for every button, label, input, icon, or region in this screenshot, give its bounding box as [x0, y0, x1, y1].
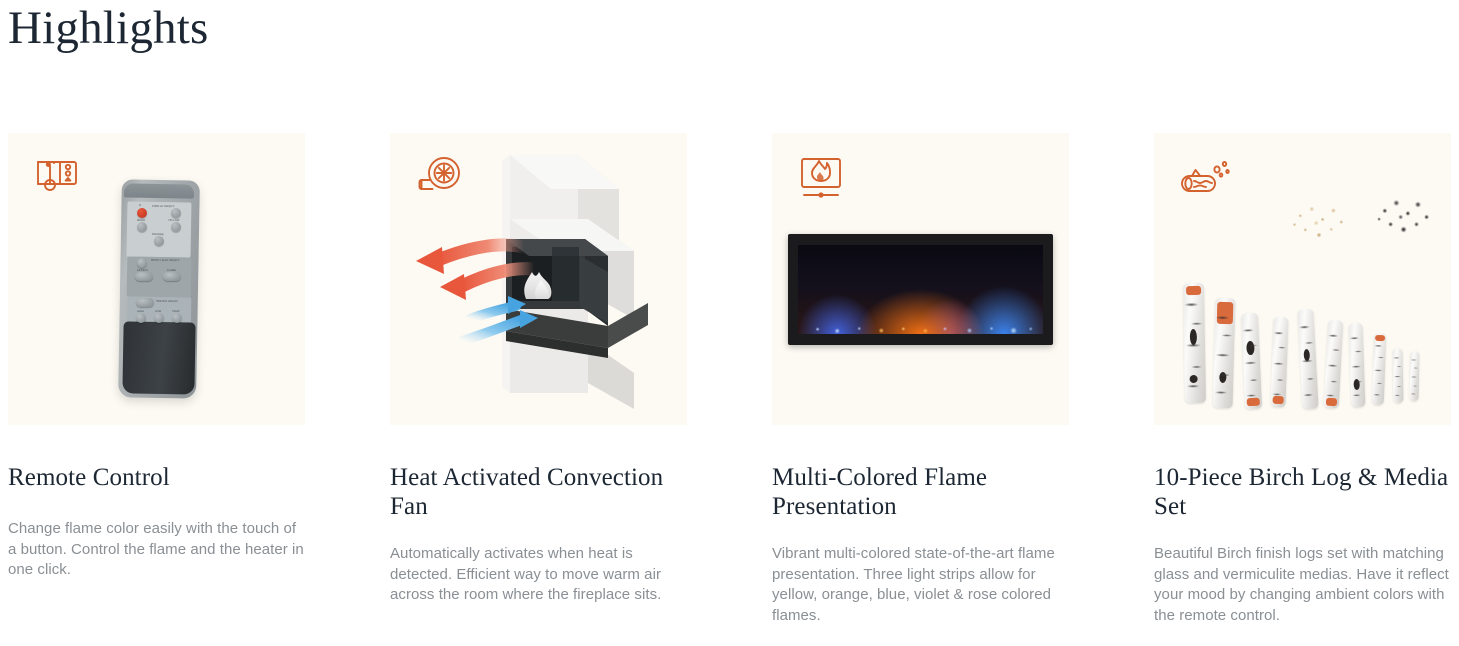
birch-log: [1241, 313, 1262, 410]
remote-button-extra: [171, 222, 181, 232]
remote-button-temp: [172, 313, 182, 323]
highlight-card-flame-presentation: Multi-Colored Flame Presentation Vibrant…: [772, 133, 1069, 626]
log-ember-icon: [1175, 152, 1231, 202]
highlight-card-convection-fan: Heat Activated Convection Fan Automatica…: [390, 133, 687, 626]
birch-log: [1393, 348, 1404, 403]
remote-label-display: DISPLAY ON/OFF: [152, 205, 175, 208]
thermostat-remote-icon: [29, 152, 85, 202]
card-title: Multi-Colored Flame Presentation: [772, 463, 1069, 521]
highlights-page: Highlights: [0, 0, 1459, 646]
convection-airflow-diagram: [390, 133, 687, 425]
birch-log: [1297, 309, 1318, 410]
remote-button-heater: [136, 298, 154, 307]
card-description: Automatically activates when heat is det…: [390, 544, 686, 606]
birch-log: [1349, 323, 1366, 407]
remote-button-mode: [137, 208, 147, 218]
page-title: Highlights: [8, 0, 208, 58]
remote-label-moodlight: MOOD LIGHT ON/OFF: [151, 259, 185, 263]
card-description: Vibrant multi-colored state-of-the-art f…: [772, 544, 1068, 626]
birch-log: [1372, 333, 1387, 405]
remote-label-heater: HEATER ON/OFF: [156, 300, 178, 303]
remote-button-orange: [137, 222, 147, 232]
card-title: 10-Piece Birch Log & Media Set: [1154, 463, 1451, 521]
remote-button-flame: [163, 272, 181, 281]
vermiculite-media-pile: [1283, 195, 1355, 247]
flame-screen-icon: [793, 152, 849, 202]
highlights-grid: ⏻ DISPLAY ON/OFF MODE YELLOW ORANGE MOOD…: [8, 133, 1451, 626]
birch-log: [1410, 351, 1420, 401]
card-description: Change flame color easily with the touch…: [8, 519, 304, 581]
ember-bed: [798, 317, 1043, 334]
highlight-card-birch-log-set: 10-Piece Birch Log & Media Set Beautiful…: [1154, 133, 1451, 626]
remote-button-center: [154, 236, 164, 246]
remote-device: ⏻ DISPLAY ON/OFF MODE YELLOW ORANGE MOOD…: [120, 180, 198, 398]
birch-log: [1213, 298, 1236, 408]
remote-control-photo: ⏻ DISPLAY ON/OFF MODE YELLOW ORANGE MOOD…: [8, 133, 305, 425]
remote-button-yellow: [171, 208, 181, 218]
black-glass-media-pile: [1369, 190, 1441, 242]
fireplace-unit: [788, 234, 1053, 345]
remote-button-high: [136, 313, 146, 323]
remote-button-low: [154, 313, 164, 323]
birch-log: [1270, 317, 1288, 407]
birch-log: [1183, 283, 1206, 403]
blower-fan-icon: [411, 152, 467, 202]
card-description: Beautiful Birch finish logs set with mat…: [1154, 544, 1450, 626]
highlight-card-remote-control: ⏻ DISPLAY ON/OFF MODE YELLOW ORANGE MOOD…: [8, 133, 305, 626]
card-title: Heat Activated Convection Fan: [390, 463, 687, 521]
card-title: Remote Control: [8, 463, 305, 492]
birch-log-media-set-photo: [1154, 133, 1451, 425]
remote-button-accent: [135, 272, 153, 281]
remote-button-moodlight: [137, 258, 147, 268]
linear-fireplace-photo: [772, 133, 1069, 425]
birch-log: [1324, 320, 1344, 409]
